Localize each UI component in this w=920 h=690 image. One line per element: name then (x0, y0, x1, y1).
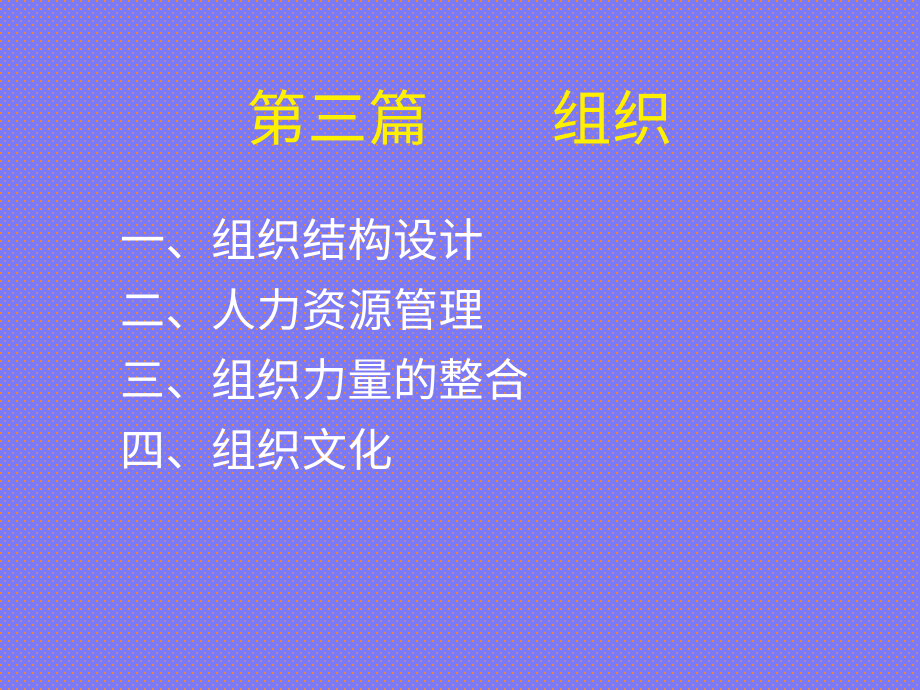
list-item: 三、组织力量的整合 (120, 346, 840, 416)
list-item: 二、人力资源管理 (120, 276, 840, 346)
list-item: 一、组织结构设计 (120, 206, 840, 276)
slide-title: 第三篇 组织 (0, 84, 920, 156)
slide-content-list: 一、组织结构设计 二、人力资源管理 三、组织力量的整合 四、组织文化 (120, 206, 840, 486)
list-item: 四、组织文化 (120, 416, 840, 486)
presentation-slide: 第三篇 组织 一、组织结构设计 二、人力资源管理 三、组织力量的整合 四、组织文… (0, 0, 920, 690)
